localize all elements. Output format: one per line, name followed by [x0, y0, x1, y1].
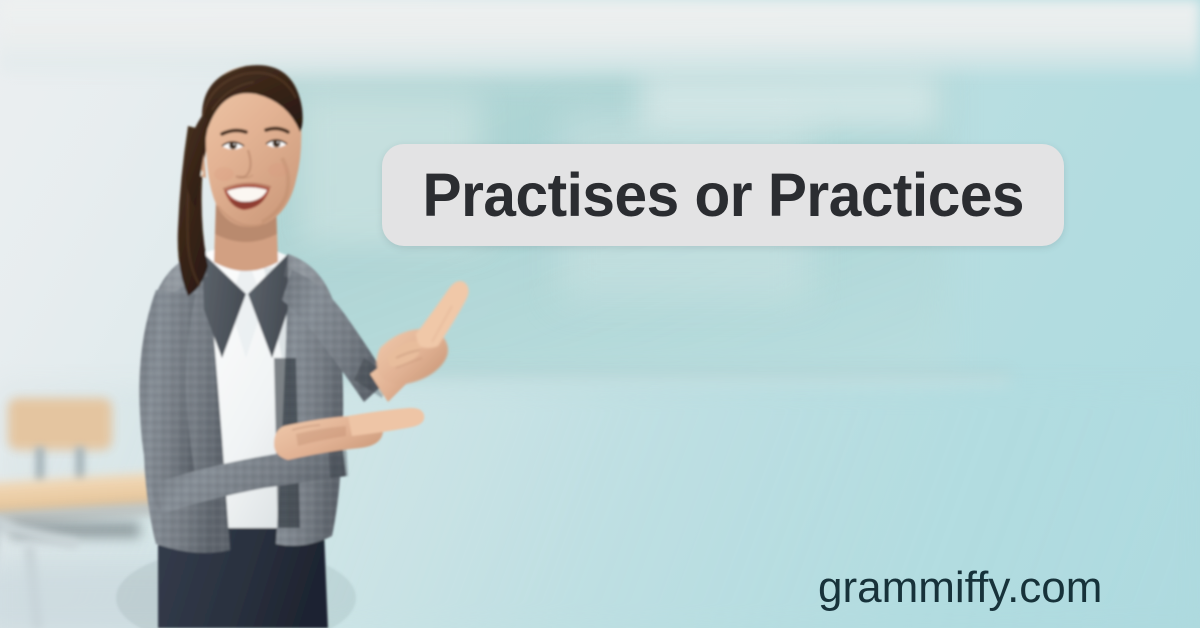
image-canvas: Practises or Practices grammiffy.com: [0, 0, 1200, 628]
pointing-hand-upper: [376, 281, 468, 384]
page-title: Practises or Practices: [422, 165, 1023, 226]
title-banner: Practises or Practices: [382, 144, 1064, 246]
background-chair-leg: [36, 447, 44, 483]
site-watermark: grammiffy.com: [818, 566, 1102, 610]
